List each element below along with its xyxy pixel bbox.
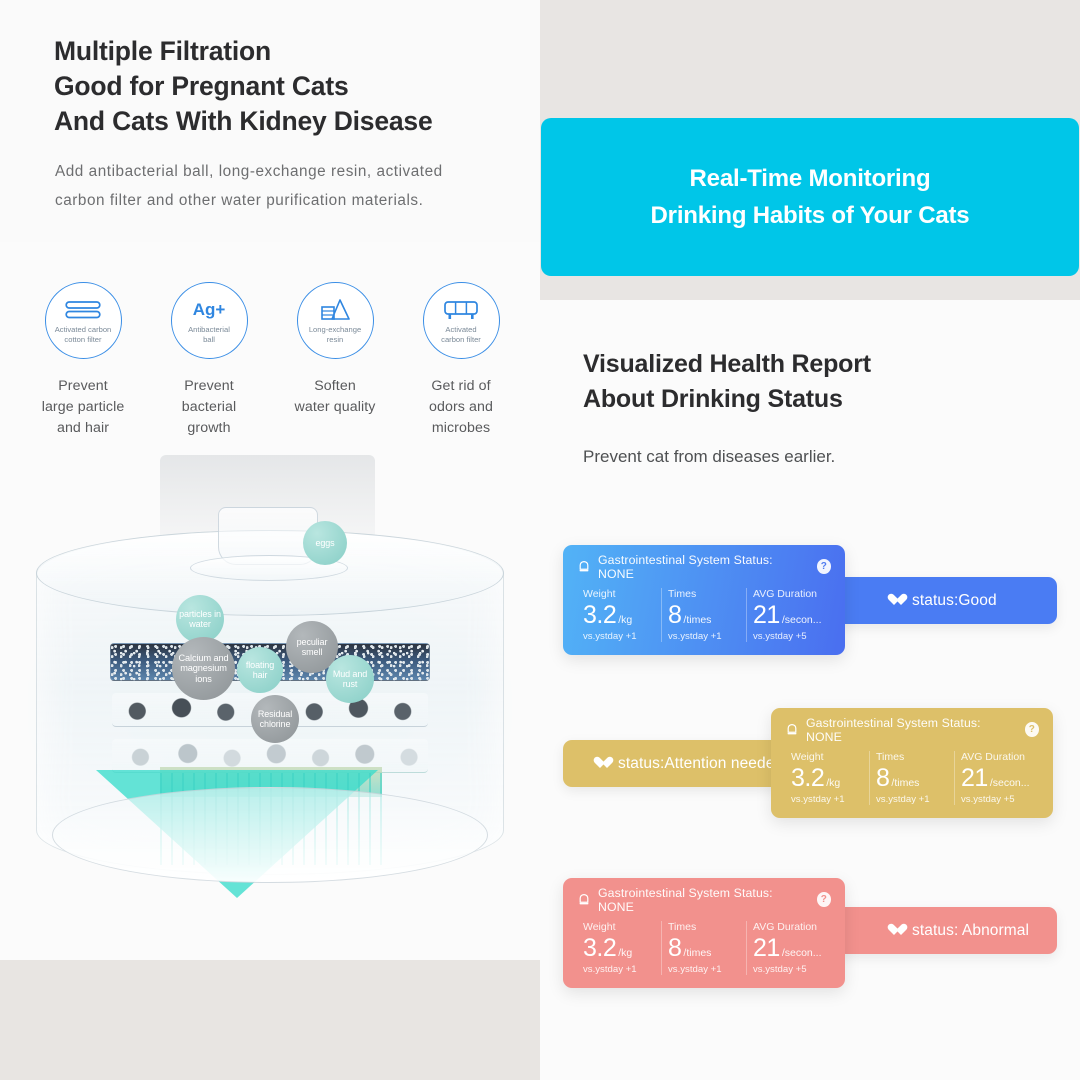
- metric-times: Times 8 /times vs.ystday +1: [869, 751, 954, 805]
- metric-grid: Weight 3.2 /kg vs.ystday +1 Times 8 /tim…: [577, 588, 831, 642]
- feature-caption: Get rid of odors and microbes: [400, 376, 522, 439]
- page-title: Multiple Filtration Good for Pregnant Ca…: [54, 34, 524, 139]
- feature-inner-label: Activated carbon cotton filter: [47, 325, 119, 344]
- metric-delta: vs.ystday +1: [791, 794, 869, 805]
- metric-label: Weight: [791, 751, 869, 763]
- inner-label-line-2: resin: [299, 335, 371, 345]
- metric-unit: /times: [683, 947, 711, 959]
- status-pill-label: status:Good: [912, 592, 997, 610]
- feature-caption: Prevent large particle and hair: [22, 376, 144, 439]
- metric-value-row: 8 /times: [668, 601, 746, 629]
- contaminant-bubble-floating-hair: floating hair: [237, 647, 283, 693]
- feature-caption: Soften water quality: [274, 376, 396, 418]
- card-title: Gastrointestinal System Status: NONE: [598, 553, 803, 581]
- inner-label-line-2: carbon filter: [425, 335, 497, 345]
- metric-value-row: 21 /secon...: [753, 934, 831, 962]
- metric-value-row: 8 /times: [668, 934, 746, 962]
- caption-line-2: bacterial: [148, 397, 270, 418]
- metric-value-row: 8 /times: [876, 764, 954, 792]
- banner-line-1: Real-Time Monitoring: [690, 160, 931, 197]
- caption-line-1: Prevent: [22, 376, 144, 397]
- headline-line-1: Multiple Filtration: [54, 34, 524, 69]
- metric-label: Times: [668, 588, 746, 600]
- metric-value: 21: [961, 764, 988, 792]
- carbon-cartridge-icon: [443, 297, 479, 323]
- metric-grid: Weight 3.2 /kg vs.ystday +1 Times 8 /tim…: [785, 751, 1039, 805]
- metric-delta: vs.ystday +1: [668, 964, 746, 975]
- health-report-title: Visualized Health Report About Drinking …: [583, 347, 1023, 417]
- card-header: Gastrointestinal System Status: NONE ?: [577, 890, 831, 909]
- metric-delta: vs.ystday +5: [753, 964, 831, 975]
- status-row-abnormal: status: Abnormal Gastrointestinal System…: [540, 865, 1080, 995]
- metric-avg-duration: AVG Duration 21 /secon... vs.ystday +5: [954, 751, 1039, 805]
- lamp-icon: [785, 723, 799, 737]
- lamp-icon: [577, 893, 591, 907]
- silver-ion-icon: Ag+: [193, 297, 226, 323]
- help-icon[interactable]: ?: [1025, 722, 1039, 737]
- caption-line-2: water quality: [274, 397, 396, 418]
- left-bottom-band: [0, 960, 540, 1080]
- metric-unit: /secon...: [990, 777, 1030, 789]
- metric-delta: vs.ystday +5: [961, 794, 1039, 805]
- status-pill-label: status:Attention needed: [618, 755, 783, 773]
- metric-delta: vs.ystday +5: [753, 631, 831, 642]
- contaminant-bubble-mud-and-rust: Mud and rust: [326, 655, 374, 703]
- banner-line-2: Drinking Habits of Your Cats: [651, 197, 970, 234]
- status-pill-abnormal[interactable]: status: Abnormal: [831, 907, 1057, 954]
- feature-circle: Activated carbon filter: [423, 282, 500, 359]
- metric-times: Times 8 /times vs.ystday +1: [661, 921, 746, 975]
- metric-grid: Weight 3.2 /kg vs.ystday +1 Times 8 /tim…: [577, 921, 831, 975]
- feature-circle: Long-exchange resin: [297, 282, 374, 359]
- feature-antibacterial-ball[interactable]: Ag+ Antibacterial ball Prevent bacterial…: [148, 282, 270, 439]
- contaminant-bubble-calcium-magnesium-ions: Calcium and magnesium ions: [172, 637, 235, 700]
- filtration-description: Add antibacterial ball, long-exchange re…: [55, 157, 485, 215]
- metric-avg-duration: AVG Duration 21 /secon... vs.ystday +5: [746, 921, 831, 975]
- status-pill-good[interactable]: status:Good: [831, 577, 1057, 624]
- caption-line-1: Get rid of: [400, 376, 522, 397]
- metric-times: Times 8 /times vs.ystday +1: [661, 588, 746, 642]
- heart-icon: [593, 757, 607, 770]
- metric-value: 21: [753, 601, 780, 629]
- real-time-monitoring-banner: Real-Time Monitoring Drinking Habits of …: [541, 118, 1079, 276]
- metric-unit: /kg: [826, 777, 840, 789]
- metric-unit: /times: [891, 777, 919, 789]
- help-icon[interactable]: ?: [817, 559, 831, 574]
- product-detail-page: Multiple Filtration Good for Pregnant Ca…: [0, 0, 1080, 1080]
- metric-value: 3.2: [791, 764, 824, 792]
- metric-card-abnormal[interactable]: Gastrointestinal System Status: NONE ? W…: [563, 878, 845, 988]
- metric-value: 8: [668, 601, 681, 629]
- health-report-title-line-2: About Drinking Status: [583, 382, 1023, 417]
- metric-delta: vs.ystday +1: [583, 631, 661, 642]
- inner-label-line-1: Activated: [425, 325, 497, 335]
- metric-value-row: 21 /secon...: [753, 601, 831, 629]
- headline-line-2: Good for Pregnant Cats: [54, 69, 524, 104]
- feature-circle: Ag+ Antibacterial ball: [171, 282, 248, 359]
- contaminant-bubble-residual-chlorine: Residual chlorine: [251, 695, 299, 743]
- contaminant-bubble-particles-in-water: particles in water: [176, 595, 224, 643]
- heart-icon: [887, 594, 901, 607]
- help-icon[interactable]: ?: [817, 892, 831, 907]
- feature-inner-label: Activated carbon filter: [425, 325, 497, 344]
- caption-line-1: Soften: [274, 376, 396, 397]
- feature-inner-label: Antibacterial ball: [173, 325, 245, 344]
- metric-label: Times: [876, 751, 954, 763]
- headline-line-3: And Cats With Kidney Disease: [54, 104, 524, 139]
- contaminant-bubble-eggs: eggs: [303, 521, 347, 565]
- metric-unit: /kg: [618, 614, 632, 626]
- metric-unit: /secon...: [782, 614, 822, 626]
- inner-label-line-2: ball: [173, 335, 245, 345]
- caption-line-3: and hair: [22, 418, 144, 439]
- status-row-attention: status:Attention needed Gastrointestinal…: [540, 697, 1080, 827]
- inner-label-line-1: Antibacterial: [173, 325, 245, 335]
- health-report-title-line-1: Visualized Health Report: [583, 347, 1023, 382]
- inner-label-line-1: Long-exchange: [299, 325, 371, 335]
- cotton-filter-icon: [65, 297, 101, 323]
- feature-caption: Prevent bacterial growth: [148, 376, 270, 439]
- metric-avg-duration: AVG Duration 21 /secon... vs.ystday +5: [746, 588, 831, 642]
- metric-value: 3.2: [583, 934, 616, 962]
- metric-label: AVG Duration: [961, 751, 1039, 763]
- feature-activated-carbon-filter[interactable]: Activated carbon filter Get rid of odors…: [400, 282, 522, 439]
- metric-value-row: 3.2 /kg: [583, 601, 661, 629]
- right-panel: Real-Time Monitoring Drinking Habits of …: [540, 0, 1080, 1080]
- metric-card-attention[interactable]: Gastrointestinal System Status: NONE ? W…: [771, 708, 1053, 818]
- card-header: Gastrointestinal System Status: NONE ?: [785, 720, 1039, 739]
- caption-line-3: growth: [148, 418, 270, 439]
- metric-card-good[interactable]: Gastrointestinal System Status: NONE ? W…: [563, 545, 845, 655]
- feature-inner-label: Long-exchange resin: [299, 325, 371, 344]
- metric-label: Times: [668, 921, 746, 933]
- metric-weight: Weight 3.2 /kg vs.ystday +1: [577, 921, 661, 975]
- metric-value-row: 3.2 /kg: [583, 934, 661, 962]
- card-title: Gastrointestinal System Status: NONE: [806, 716, 1011, 744]
- inner-label-line-2: cotton filter: [47, 335, 119, 345]
- ag-plus-label: Ag+: [193, 301, 226, 319]
- card-header: Gastrointestinal System Status: NONE ?: [577, 557, 831, 576]
- metric-value-row: 21 /secon...: [961, 764, 1039, 792]
- resin-icon: [320, 297, 350, 323]
- metric-value: 3.2: [583, 601, 616, 629]
- inner-label-line-1: Activated carbon: [47, 325, 119, 335]
- metric-value-row: 3.2 /kg: [791, 764, 869, 792]
- card-title: Gastrointestinal System Status: NONE: [598, 886, 803, 914]
- metric-value: 21: [753, 934, 780, 962]
- metric-delta: vs.ystday +1: [876, 794, 954, 805]
- metric-weight: Weight 3.2 /kg vs.ystday +1: [577, 588, 661, 642]
- metric-unit: /times: [683, 614, 711, 626]
- caption-line-2: large particle: [22, 397, 144, 418]
- feature-icon-row: Activated carbon cotton filter Prevent l…: [22, 282, 522, 439]
- metric-weight: Weight 3.2 /kg vs.ystday +1: [785, 751, 869, 805]
- feature-circle: Activated carbon cotton filter: [45, 282, 122, 359]
- metric-delta: vs.ystday +1: [668, 631, 746, 642]
- caption-line-1: Prevent: [148, 376, 270, 397]
- metric-label: Weight: [583, 921, 661, 933]
- metric-value: 8: [668, 934, 681, 962]
- caption-line-3: microbes: [400, 418, 522, 439]
- left-panel: Multiple Filtration Good for Pregnant Ca…: [0, 0, 540, 1080]
- status-row-good: status:Good Gastrointestinal System Stat…: [540, 530, 1080, 660]
- product-base: [52, 787, 488, 883]
- metric-value: 8: [876, 764, 889, 792]
- health-report-subtitle: Prevent cat from diseases earlier.: [583, 444, 1023, 470]
- product-cutaway-illustration: eggs particles in water peculiar smell f…: [0, 455, 540, 965]
- status-pill-label: status: Abnormal: [912, 922, 1029, 940]
- metric-label: AVG Duration: [753, 588, 831, 600]
- caption-line-2: odors and: [400, 397, 522, 418]
- metric-unit: /secon...: [782, 947, 822, 959]
- metric-label: AVG Duration: [753, 921, 831, 933]
- metric-unit: /kg: [618, 947, 632, 959]
- feature-long-exchange-resin[interactable]: Long-exchange resin Soften water quality: [274, 282, 396, 439]
- metric-label: Weight: [583, 588, 661, 600]
- heart-icon: [887, 924, 901, 937]
- feature-activated-carbon-cotton-filter[interactable]: Activated carbon cotton filter Prevent l…: [22, 282, 144, 439]
- lamp-icon: [577, 560, 591, 574]
- metric-delta: vs.ystday +1: [583, 964, 661, 975]
